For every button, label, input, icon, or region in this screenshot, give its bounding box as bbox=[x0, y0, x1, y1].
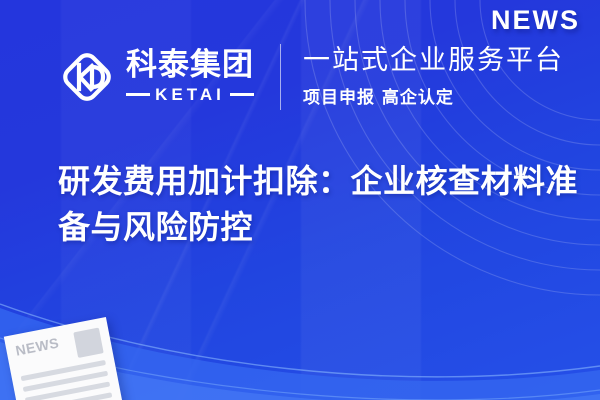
tagline-sub: 项目申报 高企认定 bbox=[303, 83, 564, 108]
news-banner: NEWS 科泰集团 KETAI bbox=[0, 0, 600, 400]
article-title: 研发费用加计扣除：企业核查材料准备与风险防控 bbox=[58, 158, 578, 250]
wordmark-rule-right bbox=[230, 93, 254, 96]
header-divider bbox=[280, 44, 281, 110]
brand-name-en: KETAI bbox=[150, 85, 230, 105]
newspaper-graphic: NEWS bbox=[4, 317, 124, 400]
banner-header: 科泰集团 KETAI 一站式企业服务平台 项目申报 高企认定 bbox=[58, 40, 564, 114]
newspaper-thumbnail-icon bbox=[73, 328, 103, 358]
newspaper-headline: NEWS bbox=[14, 333, 72, 357]
tagline-block: 一站式企业服务平台 项目申报 高企认定 bbox=[303, 46, 564, 108]
brand-name-en-row: KETAI bbox=[126, 85, 254, 105]
wordmark-rule-left bbox=[126, 93, 150, 96]
ketai-diamond-logo-icon bbox=[58, 48, 116, 106]
brand-name-cn: 科泰集团 bbox=[126, 49, 254, 82]
brand-wordmark: 科泰集团 KETAI bbox=[126, 49, 254, 105]
news-badge: NEWS bbox=[491, 5, 580, 36]
tagline-main: 一站式企业服务平台 bbox=[303, 46, 564, 76]
